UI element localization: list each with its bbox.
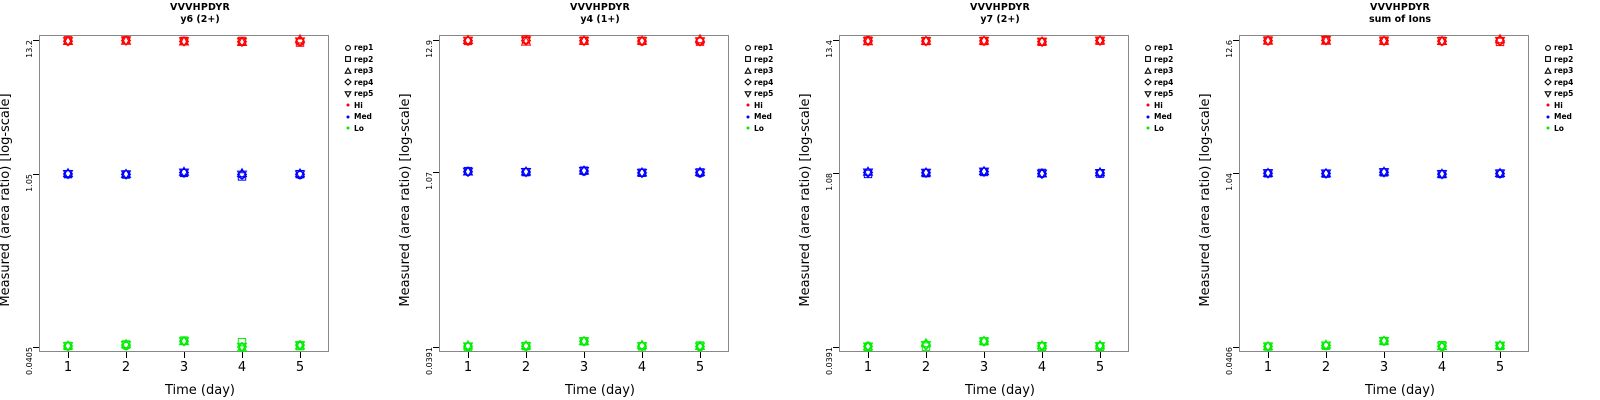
legend-item-label: rep3 — [1554, 65, 1573, 77]
dot-icon — [1541, 111, 1554, 123]
chart-panel: VVVHPDYRy4 (1+)Measured (area ratio) [lo… — [400, 0, 800, 400]
x-axis-tick-mark — [526, 352, 527, 358]
x-axis-tick-mark — [300, 352, 301, 358]
legend: rep1rep2rep3rep4rep5HiMedLo — [741, 42, 799, 134]
legend-item: rep2 — [1541, 54, 1599, 66]
x-axis-tick-label: 3 — [172, 360, 196, 375]
legend-item: Hi — [741, 100, 799, 112]
legend-item: rep5 — [341, 88, 399, 100]
x-axis-tick-label: 1 — [456, 360, 480, 375]
legend-item-label: Lo — [754, 123, 764, 135]
dot-icon — [341, 100, 354, 112]
legend-item-label: rep1 — [1554, 42, 1573, 54]
diamond-icon — [341, 77, 354, 89]
x-axis-tick-mark — [868, 352, 869, 358]
legend-item-label: Lo — [1154, 123, 1164, 135]
x-axis-tick-mark — [1326, 352, 1327, 358]
circle-icon — [341, 42, 354, 54]
x-axis-tick-mark — [242, 352, 243, 358]
x-axis-label: Time (day) — [800, 383, 1200, 398]
dot-icon — [1141, 100, 1154, 112]
chart-panel: VVVHPDYRsum of IonsMeasured (area ratio)… — [1200, 0, 1600, 400]
legend-item: Lo — [341, 123, 399, 135]
x-axis-tick-label: 1 — [1256, 360, 1280, 375]
legend-item: Hi — [1141, 100, 1199, 112]
x-axis-tick-label: 4 — [1030, 360, 1054, 375]
legend-item-label: Med — [1554, 111, 1572, 123]
x-axis-tick-label: 4 — [230, 360, 254, 375]
legend-item: Hi — [1541, 100, 1599, 112]
legend-item: rep1 — [341, 42, 399, 54]
x-axis-tick-mark — [126, 352, 127, 358]
x-axis-tick-label: 3 — [1372, 360, 1396, 375]
y-axis-tick-label: 0.0391 — [810, 347, 850, 387]
legend-item: rep4 — [1141, 77, 1199, 89]
legend-item-label: Med — [1154, 111, 1172, 123]
legend-item-label: rep5 — [1154, 88, 1173, 100]
x-axis-tick-label: 5 — [1088, 360, 1112, 375]
triangle-down-icon — [1541, 88, 1554, 100]
diamond-icon — [741, 77, 754, 89]
x-axis-tick-mark — [1100, 352, 1101, 358]
circle-icon — [1541, 42, 1554, 54]
legend-item: rep2 — [1141, 54, 1199, 66]
x-axis-label: Time (day) — [0, 383, 400, 398]
x-axis-tick-mark — [1042, 352, 1043, 358]
legend-item: rep4 — [1541, 77, 1599, 89]
x-axis-tick-mark — [926, 352, 927, 358]
x-axis-tick-mark — [68, 352, 69, 358]
chart-panel: VVVHPDYRy7 (2+)Measured (area ratio) [lo… — [800, 0, 1200, 400]
legend-item-label: rep5 — [1554, 88, 1573, 100]
legend-item: Hi — [341, 100, 399, 112]
chart-panel: VVVHPDYRy6 (2+)Measured (area ratio) [lo… — [0, 0, 400, 400]
legend-item: rep3 — [741, 65, 799, 77]
circle-icon — [1141, 42, 1154, 54]
legend-item: rep4 — [741, 77, 799, 89]
legend-item-label: rep4 — [354, 77, 373, 89]
legend-item: rep3 — [341, 65, 399, 77]
legend-item: rep5 — [741, 88, 799, 100]
square-icon — [1141, 54, 1154, 66]
diamond-icon — [1541, 77, 1554, 89]
x-axis-tick-mark — [1384, 352, 1385, 358]
dot-icon — [1141, 123, 1154, 135]
legend-item: rep5 — [1141, 88, 1199, 100]
x-axis-tick-label: 5 — [288, 360, 312, 375]
x-axis-label: Time (day) — [400, 383, 800, 398]
data-points-layer — [800, 0, 1090, 317]
x-axis-tick-mark — [1500, 352, 1501, 358]
legend-item-label: rep5 — [354, 88, 373, 100]
square-icon — [1541, 54, 1554, 66]
triangle-up-icon — [741, 65, 754, 77]
x-axis-tick-label: 2 — [1314, 360, 1338, 375]
dot-icon — [341, 123, 354, 135]
x-axis-tick-label: 5 — [688, 360, 712, 375]
dot-icon — [741, 111, 754, 123]
triangle-up-icon — [1541, 65, 1554, 77]
legend-item: Med — [741, 111, 799, 123]
x-axis-tick-label: 3 — [972, 360, 996, 375]
dot-icon — [1141, 111, 1154, 123]
legend-item-label: rep1 — [1154, 42, 1173, 54]
legend-item-label: Lo — [354, 123, 364, 135]
x-axis-tick-mark — [468, 352, 469, 358]
legend-item-label: rep1 — [354, 42, 373, 54]
dot-icon — [1541, 100, 1554, 112]
x-axis-tick-label: 4 — [630, 360, 654, 375]
x-axis-tick-label: 1 — [856, 360, 880, 375]
legend-item: Med — [1541, 111, 1599, 123]
dot-icon — [1541, 123, 1554, 135]
x-axis-tick-mark — [1442, 352, 1443, 358]
legend-item-label: rep2 — [754, 54, 773, 66]
legend-item: Lo — [1141, 123, 1199, 135]
legend-item-label: rep3 — [754, 65, 773, 77]
legend-item-label: rep1 — [754, 42, 773, 54]
legend-item-label: rep2 — [354, 54, 373, 66]
legend: rep1rep2rep3rep4rep5HiMedLo — [1541, 42, 1599, 134]
legend-item: rep3 — [1541, 65, 1599, 77]
x-axis-tick-label: 4 — [1430, 360, 1454, 375]
square-icon — [341, 54, 354, 66]
x-axis-tick-label: 2 — [914, 360, 938, 375]
legend-item-label: rep4 — [754, 77, 773, 89]
x-axis-tick-mark — [1268, 352, 1269, 358]
legend-item-label: rep5 — [754, 88, 773, 100]
legend-item-label: Hi — [754, 100, 763, 112]
data-points-layer — [400, 0, 690, 317]
legend: rep1rep2rep3rep4rep5HiMedLo — [1141, 42, 1199, 134]
legend-item: Lo — [1541, 123, 1599, 135]
legend-item-label: Med — [754, 111, 772, 123]
triangle-down-icon — [1141, 88, 1154, 100]
diamond-icon — [1141, 77, 1154, 89]
legend-item-label: Hi — [1554, 100, 1563, 112]
legend-item: rep3 — [1141, 65, 1199, 77]
legend-item: rep1 — [1141, 42, 1199, 54]
legend-item-label: rep3 — [354, 65, 373, 77]
figure-panels: VVVHPDYRy6 (2+)Measured (area ratio) [lo… — [0, 0, 1600, 400]
data-points-layer — [0, 0, 290, 317]
x-axis-tick-mark — [584, 352, 585, 358]
legend-item: rep2 — [341, 54, 399, 66]
legend-item: rep1 — [1541, 42, 1599, 54]
legend-item: rep1 — [741, 42, 799, 54]
x-axis-label: Time (day) — [1200, 383, 1600, 398]
y-axis-tick-label: 0.0406 — [1210, 347, 1250, 387]
legend-item-label: Hi — [354, 100, 363, 112]
x-axis-tick-mark — [184, 352, 185, 358]
triangle-down-icon — [341, 88, 354, 100]
legend-item: Med — [1141, 111, 1199, 123]
y-axis-tick-label: 0.0391 — [410, 347, 450, 387]
legend-item-label: rep4 — [1554, 77, 1573, 89]
legend-item-label: Hi — [1154, 100, 1163, 112]
legend-item-label: rep2 — [1154, 54, 1173, 66]
legend-item-label: Lo — [1554, 123, 1564, 135]
legend-item-label: rep4 — [1154, 77, 1173, 89]
legend-item: rep2 — [741, 54, 799, 66]
x-axis-tick-label: 5 — [1488, 360, 1512, 375]
x-axis-tick-mark — [642, 352, 643, 358]
dot-icon — [741, 123, 754, 135]
x-axis-tick-label: 2 — [514, 360, 538, 375]
dot-icon — [741, 100, 754, 112]
y-axis-tick-label: 0.0405 — [10, 347, 50, 387]
triangle-down-icon — [741, 88, 754, 100]
legend: rep1rep2rep3rep4rep5HiMedLo — [341, 42, 399, 134]
circle-icon — [741, 42, 754, 54]
legend-item: Lo — [741, 123, 799, 135]
x-axis-tick-mark — [984, 352, 985, 358]
legend-item-label: Med — [354, 111, 372, 123]
data-points-layer — [1200, 0, 1490, 317]
triangle-up-icon — [1141, 65, 1154, 77]
legend-item: rep5 — [1541, 88, 1599, 100]
legend-item-label: rep3 — [1154, 65, 1173, 77]
x-axis-tick-label: 1 — [56, 360, 80, 375]
square-icon — [741, 54, 754, 66]
triangle-up-icon — [341, 65, 354, 77]
legend-item: rep4 — [341, 77, 399, 89]
dot-icon — [341, 111, 354, 123]
x-axis-tick-label: 3 — [572, 360, 596, 375]
x-axis-tick-mark — [700, 352, 701, 358]
legend-item: Med — [341, 111, 399, 123]
legend-item-label: rep2 — [1554, 54, 1573, 66]
x-axis-tick-label: 2 — [114, 360, 138, 375]
